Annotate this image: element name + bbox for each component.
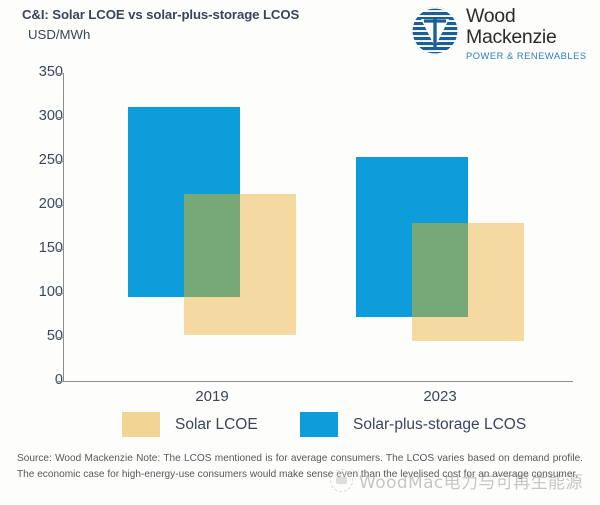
legend-swatch-solar-plus-storage-lcos <box>300 412 338 437</box>
x-axis-label-2023: 2023 <box>380 388 500 405</box>
y-axis-tick-label: 250 <box>15 152 63 168</box>
y-axis-tick-mark <box>56 161 63 162</box>
chart-screenshot: C&I: Solar LCOE vs solar-plus-storage LC… <box>0 0 600 505</box>
y-axis-tick-mark <box>56 337 63 338</box>
legend-item-solar-plus-storage-lcos[interactable]: Solar-plus-storage LCOS <box>300 412 526 437</box>
y-axis-tick-mark <box>56 73 63 74</box>
y-axis-tick-mark <box>56 249 63 250</box>
y-axis-tick-label: 350 <box>15 64 63 80</box>
chart-title: C&I: Solar LCOE vs solar-plus-storage LC… <box>22 7 299 22</box>
plot-area: 050100150200250300350 20192023 <box>0 60 600 395</box>
y-axis-tick-label: 300 <box>15 108 63 124</box>
y-axis-tick-label: 50 <box>15 328 63 344</box>
x-axis-label-2019: 2019 <box>152 388 272 405</box>
x-axis-line <box>63 381 573 382</box>
chart-units-label: USD/MWh <box>28 27 90 42</box>
legend-label-solar-plus-storage-lcos: Solar-plus-storage LCOS <box>353 416 526 434</box>
brand-name-line2: Mackenzie <box>466 27 590 48</box>
y-axis-tick-label: 0 <box>15 372 63 388</box>
y-axis-tick-mark <box>56 205 63 206</box>
legend-item-solar-lcoe[interactable]: Solar LCOE <box>122 412 258 437</box>
y-axis-tick-label: 200 <box>15 196 63 212</box>
brand-logo-text: Wood Mackenzie POWER & RENEWABLES <box>466 6 590 61</box>
legend-label-solar-lcoe: Solar LCOE <box>175 416 258 434</box>
legend-swatch-solar-lcoe <box>122 412 160 437</box>
y-axis-tick-mark <box>56 293 63 294</box>
source-footnote: Source: Wood Mackenzie Note: The LCOS me… <box>17 451 583 482</box>
chart-legend: Solar LCOE Solar-plus-storage LCOS <box>0 410 600 444</box>
y-axis-line <box>63 73 64 382</box>
wood-mackenzie-logo-icon <box>410 6 460 56</box>
y-axis-tick-label: 100 <box>15 284 63 300</box>
y-axis-tick-label: 150 <box>15 240 63 256</box>
bar-overlap-2023 <box>412 223 468 317</box>
y-axis-tick-mark <box>56 117 63 118</box>
bar-overlap-2019 <box>184 194 240 297</box>
y-axis-tick-mark <box>56 381 63 382</box>
brand-name-line1: Wood <box>466 6 590 27</box>
